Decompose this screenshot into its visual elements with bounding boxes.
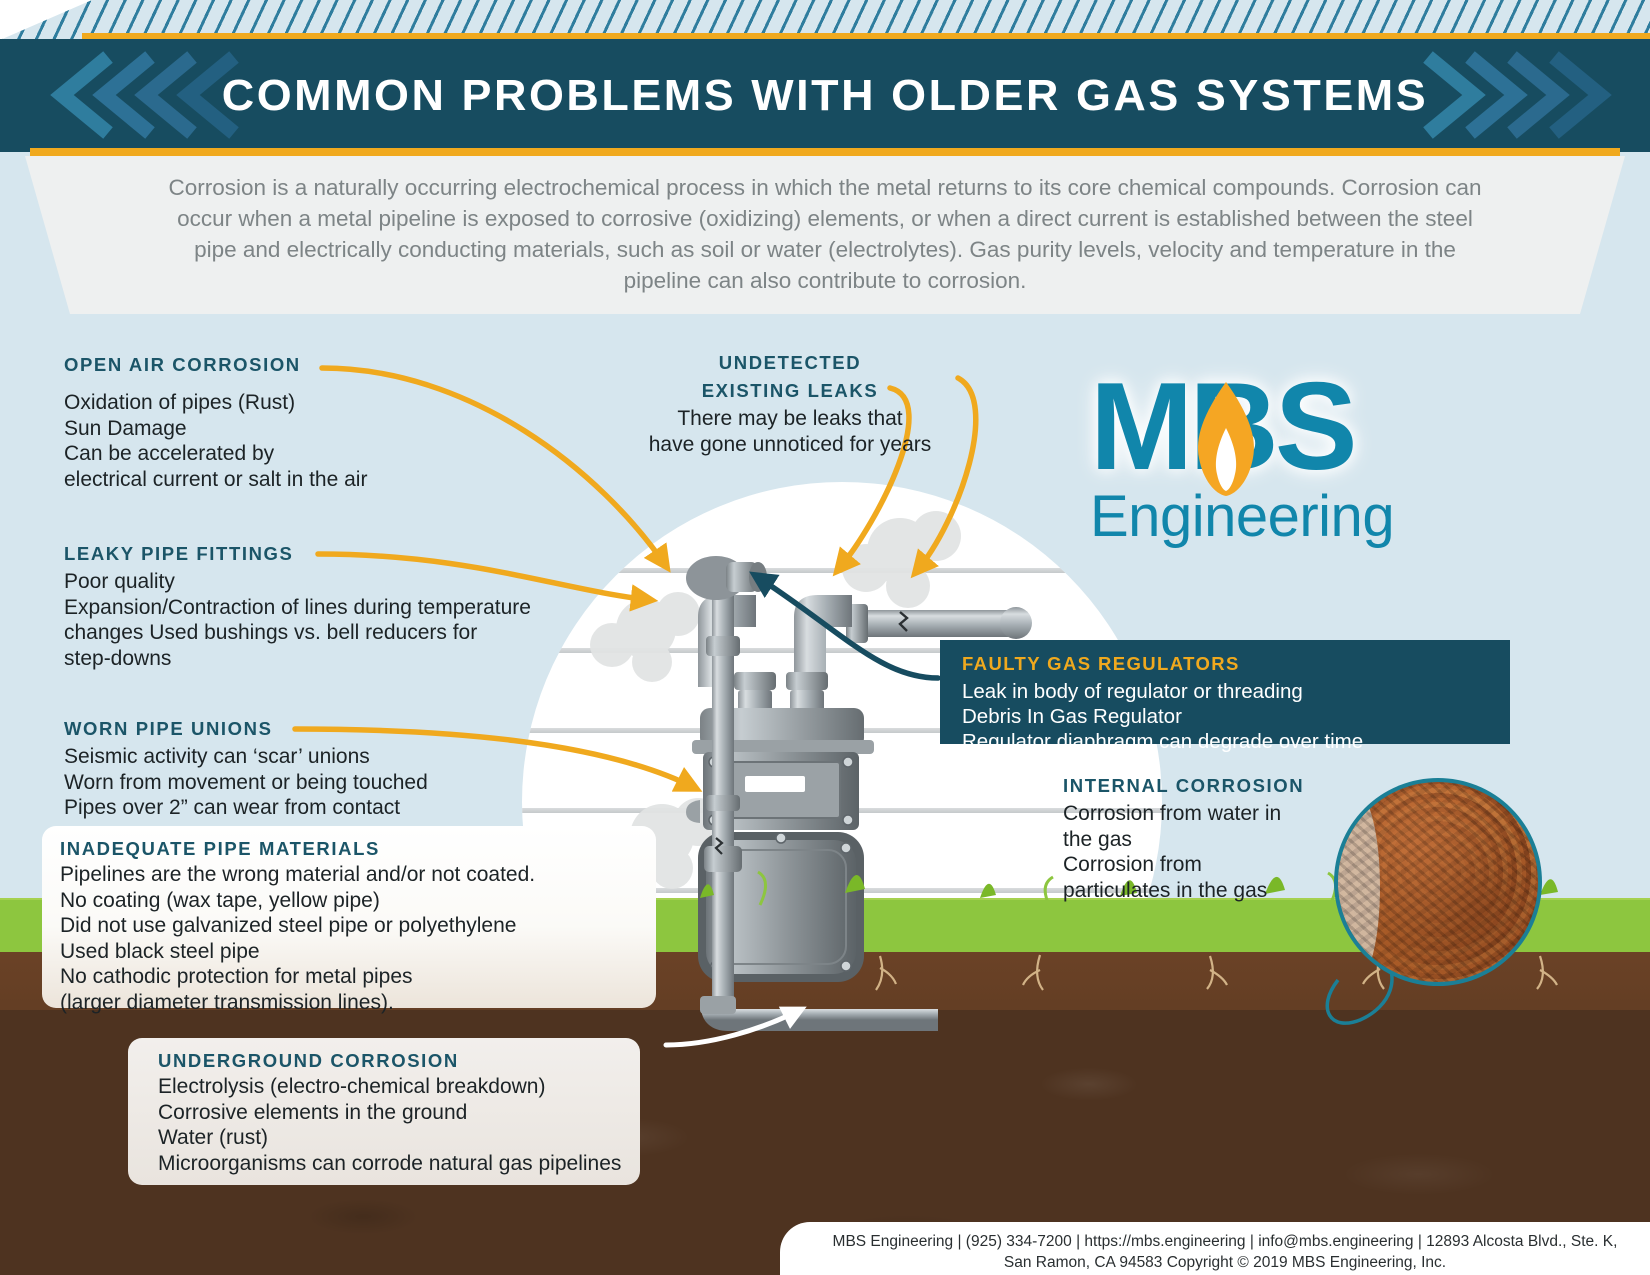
callout-underground-corrosion: UNDERGROUND CORROSION Electrolysis (elec… [128,1038,640,1185]
callout-inadequate-pipe-materials: INADEQUATE PIPE MATERIALS Pipelines are … [42,826,656,1008]
callout-line: Debris In Gas Regulator [962,704,1510,729]
callout-line: step-downs [64,646,584,672]
callout-line: Corrosion from water in [1063,801,1363,827]
callout-line: Regulator diaphragm can degrade over tim… [962,729,1510,754]
callout-line: changes Used bushings vs. bell reducers … [64,620,584,646]
callout-line: Did not use galvanized steel pipe or pol… [60,913,638,939]
callout-undetected-existing-leaks: UNDETECTED EXISTING LEAKS There may be l… [620,352,960,457]
header-bottom-accent-bar [30,148,1620,156]
callout-line: particulates in the gas [1063,878,1363,904]
callout-line: Sun Damage [64,416,584,442]
callout-open-air-corrosion: OPEN AIR CORROSION Oxidation of pipes (R… [64,354,584,492]
callout-faulty-gas-regulators: FAULTY GAS REGULATORS Leak in body of re… [940,640,1510,744]
header-bar: COMMON PROBLEMS WITH OLDER GAS SYSTEMS [0,39,1650,152]
callout-line: Electrolysis (electro-chemical breakdown… [158,1074,622,1100]
callout-line: Poor quality [64,569,584,595]
callout-worn-pipe-unions: WORN PIPE UNIONS Seismic activity can ‘s… [64,718,584,821]
callout-line: Worn from movement or being touched [64,770,584,796]
callout-heading: INADEQUATE PIPE MATERIALS [60,838,638,860]
callout-line: Pipes over 2” can wear from contact [64,795,584,821]
page-title: COMMON PROBLEMS WITH OLDER GAS SYSTEMS [0,39,1650,152]
logo-wordmark: MBS [1090,368,1470,486]
infographic-page: COMMON PROBLEMS WITH OLDER GAS SYSTEMS C… [0,0,1650,1275]
callout-line: Leak in body of regulator or threading [962,679,1510,704]
mbs-logo[interactable]: MBS Engineering [1090,368,1470,573]
callout-line: have gone unnoticed for years [620,432,960,458]
callout-line: Expansion/Contraction of lines during te… [64,595,584,621]
callout-line: (larger diameter transmission lines). [60,990,638,1016]
callout-line: Pipelines are the wrong material and/or … [60,862,638,888]
callout-internal-corrosion: INTERNAL CORROSION Corrosion from water … [1063,775,1363,903]
callout-line: Microorganisms can corrode natural gas p… [158,1151,622,1177]
callout-line: Corrosive elements in the ground [158,1100,622,1126]
footer-contact-bar: MBS Engineering | (925) 334-7200 | https… [780,1222,1650,1275]
callout-leaky-pipe-fittings: LEAKY PIPE FITTINGS Poor quality Expansi… [64,543,584,671]
callout-line: Water (rust) [158,1125,622,1151]
callout-line: Seismic activity can ‘scar’ unions [64,744,584,770]
callout-heading: OPEN AIR CORROSION [64,354,584,376]
callout-heading: WORN PIPE UNIONS [64,718,584,740]
footer-line-2: San Ramon, CA 94583 Copyright © 2019 MBS… [1004,1252,1446,1273]
corroded-pipe-photo [1334,778,1542,986]
callout-heading: UNDERGROUND CORROSION [158,1050,622,1072]
callout-line: No cathodic protection for metal pipes [60,964,638,990]
callout-line: the gas [1063,827,1363,853]
callout-line: electrical current or salt in the air [64,467,584,493]
intro-text: Corrosion is a naturally occurring elect… [160,172,1490,296]
callout-line: Corrosion from [1063,852,1363,878]
footer-line-1: MBS Engineering | (925) 334-7200 | https… [833,1231,1618,1252]
callout-heading: LEAKY PIPE FITTINGS [64,543,584,565]
callout-line: Used black steel pipe [60,939,638,965]
callout-line: Can be accelerated by [64,441,584,467]
callout-heading-line1: UNDETECTED [620,352,960,374]
callout-line: There may be leaks that [620,406,960,432]
flame-icon [1189,380,1263,498]
callout-heading-line2: EXISTING LEAKS [620,380,960,402]
callout-heading: FAULTY GAS REGULATORS [962,653,1510,675]
callout-heading: INTERNAL CORROSION [1063,775,1363,797]
callout-line: Oxidation of pipes (Rust) [64,390,584,416]
callout-line: No coating (wax tape, yellow pipe) [60,888,638,914]
